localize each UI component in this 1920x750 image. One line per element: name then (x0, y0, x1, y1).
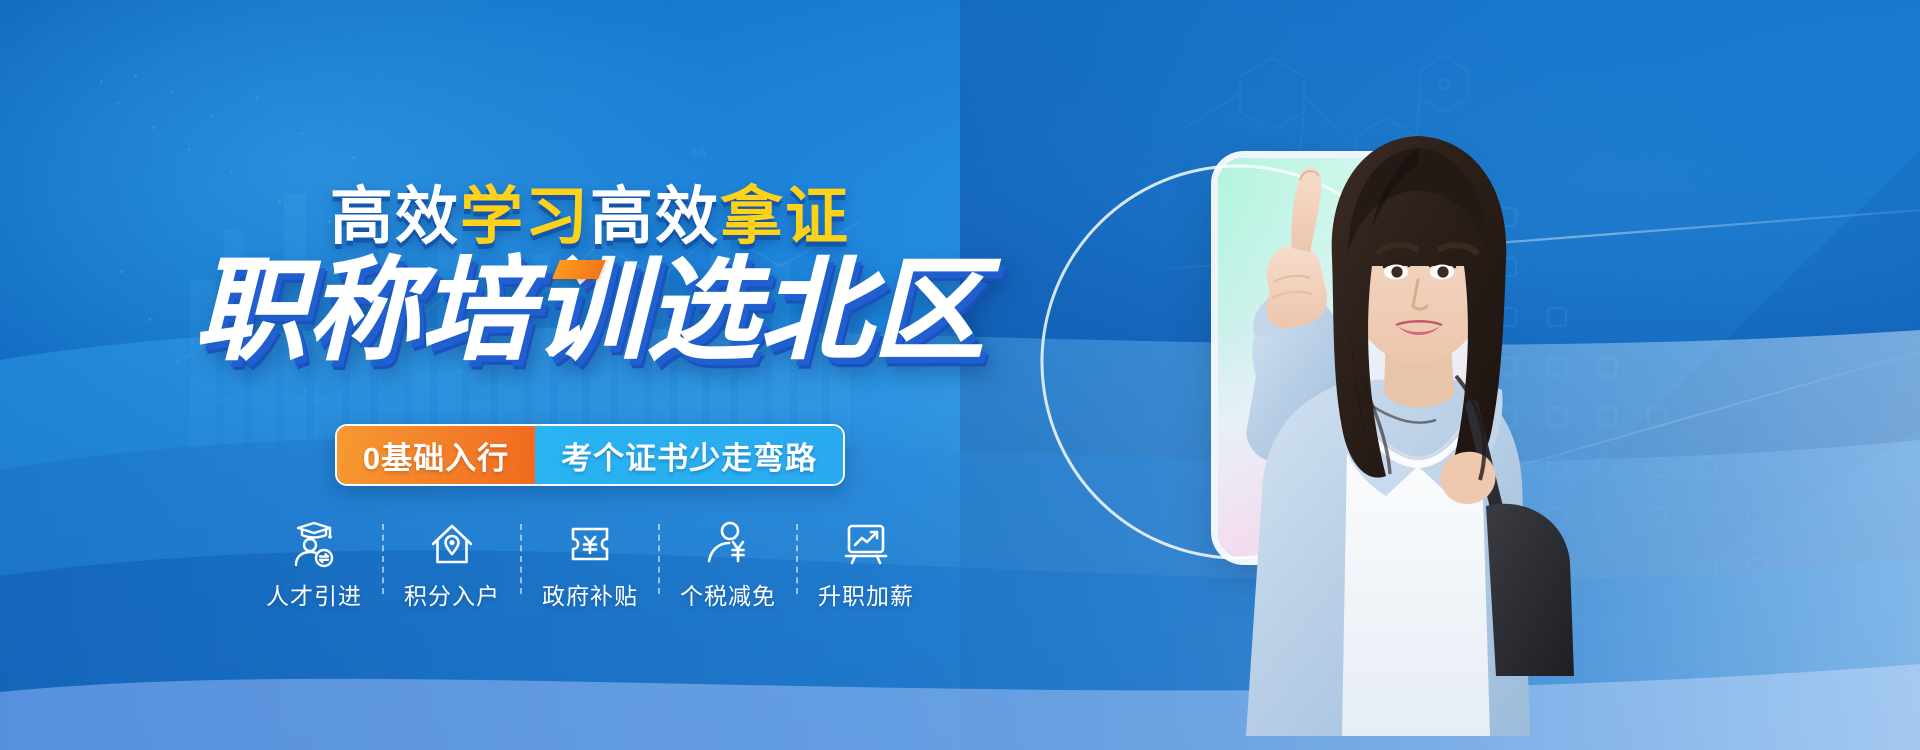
feature-item-talent-introduction[interactable]: 人才引进 (246, 520, 382, 611)
badge-secondary: 考个证书少走弯路 (535, 426, 843, 484)
headline-accent-mark (552, 260, 606, 279)
headline-top-seg-2: 高效 (590, 186, 720, 249)
feature-item-tax-reduction[interactable]: 个税减免 (660, 520, 796, 611)
badge-primary: 0基础入行 (337, 426, 535, 484)
feature-item-points-residency[interactable]: 积分入户 (384, 520, 520, 611)
headline-main: 职称培训选北区 (0, 252, 1180, 370)
badge-wrapper: 0基础入行 考个证书少走弯路 (335, 424, 845, 486)
headline-top-seg-1: 学习 (460, 186, 590, 249)
house-pin-icon (427, 520, 477, 568)
voucher-yuan-icon (565, 520, 615, 568)
feature-label: 人才引进 (266, 577, 362, 611)
graduate-person-icon (289, 520, 339, 568)
feature-label: 升职加薪 (818, 577, 914, 611)
feature-label: 政府补贴 (542, 577, 638, 611)
person-yuan-icon (703, 520, 753, 568)
headline-top-seg-3: 拿证 (720, 186, 850, 249)
promo-banner: 239 46 (0, 0, 1920, 750)
headline-top-seg-0: 高效 (330, 186, 460, 249)
feature-label: 个税减免 (680, 577, 776, 611)
feature-item-government-subsidy[interactable]: 政府补贴 (522, 520, 658, 611)
feature-item-promotion-raise[interactable]: 升职加薪 (798, 520, 934, 611)
feature-list: 人才引进 积分入户 (0, 520, 1180, 611)
growth-chart-board-icon (841, 520, 891, 568)
feature-label: 积分入户 (404, 577, 500, 611)
presenter-photo (1150, 76, 1580, 736)
headline-top: 高效学习高效拿证 (0, 186, 1180, 249)
copy-block: 高效学习高效拿证 职称培训选北区 0基础入行 考个证书少走弯路 (0, 0, 1180, 750)
subheadline-badge: 0基础入行 考个证书少走弯路 (0, 424, 1180, 486)
